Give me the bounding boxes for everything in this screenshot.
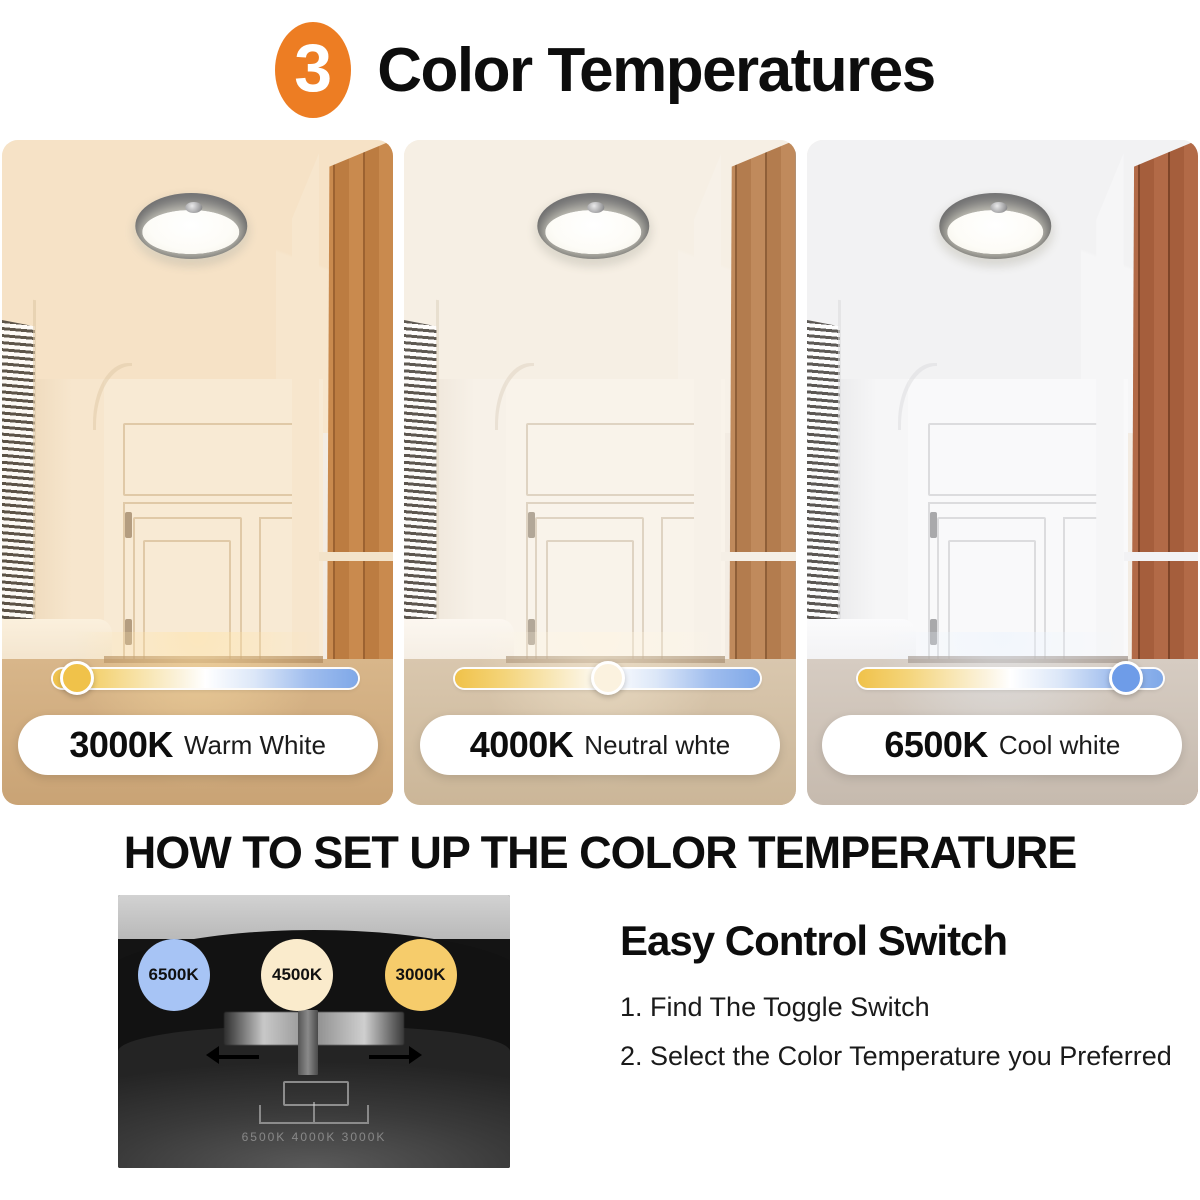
blind-frame: [838, 299, 841, 672]
counter-edge: [319, 552, 393, 561]
temperature-label-6500k: 6500K Cool white: [822, 715, 1182, 775]
door-transom-panel: [526, 423, 718, 496]
ceiling-light-fixture: [537, 193, 649, 259]
color-temperature-panel-3000k[interactable]: 3000K Warm White: [2, 140, 393, 805]
color-temperature-panel-6500k[interactable]: 6500K Cool white: [807, 140, 1198, 805]
ceiling-light-fixture: [940, 193, 1052, 259]
kelvin-value: 4000K: [470, 724, 574, 766]
wiring-diagram-leg-right: [367, 1105, 369, 1121]
setup-section: 6500K 4000K 3000K 6500K 4500K 3000K Easy…: [0, 895, 1200, 1168]
blind-frame: [436, 299, 439, 672]
blind-frame: [33, 299, 36, 672]
color-temperature-panel-4000k[interactable]: 4000K Neutral whte: [404, 140, 795, 805]
temperature-slider-3000k[interactable]: [53, 669, 358, 688]
ceiling-light-fixture: [135, 193, 247, 259]
wiring-diagram-rail: [259, 1122, 369, 1124]
instructions-title: Easy Control Switch: [620, 917, 1180, 965]
door-hinge-upper: [930, 512, 937, 538]
arrow-left-head-icon: [206, 1046, 219, 1064]
page-title: Color Temperatures: [377, 35, 935, 106]
arrow-left-icon: [216, 1055, 259, 1059]
door-hinge-upper: [125, 512, 132, 538]
temperature-slider-6500k[interactable]: [858, 669, 1163, 688]
arrow-right-icon: [369, 1055, 412, 1059]
fixture-diffuser: [545, 210, 641, 254]
count-badge: 3: [275, 22, 351, 118]
arrow-right-head-icon: [409, 1046, 422, 1064]
instruction-step-1: 1. Find The Toggle Switch: [620, 987, 1180, 1028]
kelvin-name: Neutral whte: [584, 730, 730, 761]
instruction-step-2: 2. Select the Color Temperature you Pref…: [620, 1036, 1180, 1077]
wiring-diagram-box: [283, 1081, 350, 1107]
bubble-3000k: 3000K: [385, 939, 457, 1011]
toggle-switch-photo: 6500K 4000K 3000K 6500K 4500K 3000K: [118, 895, 510, 1168]
slider-knob[interactable]: [591, 661, 625, 695]
temperature-label-3000k: 3000K Warm White: [18, 715, 378, 775]
kelvin-value: 3000K: [69, 724, 173, 766]
room-scene-neutral: [404, 140, 795, 805]
bubble-4500k: 4500K: [261, 939, 333, 1011]
color-temperature-panels: 3000K Warm White: [0, 140, 1200, 805]
instructions-block: Easy Control Switch 1. Find The Toggle S…: [510, 895, 1180, 1084]
door-transom-panel: [928, 423, 1120, 496]
room-scene-warm: [2, 140, 393, 805]
door-transom-panel: [123, 423, 315, 496]
fixture-diffuser: [143, 210, 239, 254]
wiring-diagram-stem: [313, 1102, 315, 1121]
temperature-slider-4000k[interactable]: [455, 669, 760, 688]
etched-kelvin-labels: 6500K 4000K 3000K: [118, 1130, 510, 1144]
setup-section-heading: HOW TO SET UP THE COLOR TEMPERATURE: [0, 805, 1200, 895]
kelvin-name: Warm White: [184, 730, 326, 761]
counter-edge: [1124, 552, 1198, 561]
counter-edge: [721, 552, 795, 561]
room-scene-cool: [807, 140, 1198, 805]
toggle-lever[interactable]: [298, 1010, 318, 1076]
fixture-diffuser: [947, 210, 1043, 254]
door-hinge-upper: [528, 512, 535, 538]
temperature-label-4000k: 4000K Neutral whte: [420, 715, 780, 775]
wiring-diagram-leg-left: [259, 1105, 261, 1121]
kelvin-name: Cool white: [999, 730, 1120, 761]
kelvin-value: 6500K: [884, 724, 988, 766]
bubble-6500k: 6500K: [138, 939, 210, 1011]
page-header: 3 Color Temperatures: [0, 0, 1200, 140]
